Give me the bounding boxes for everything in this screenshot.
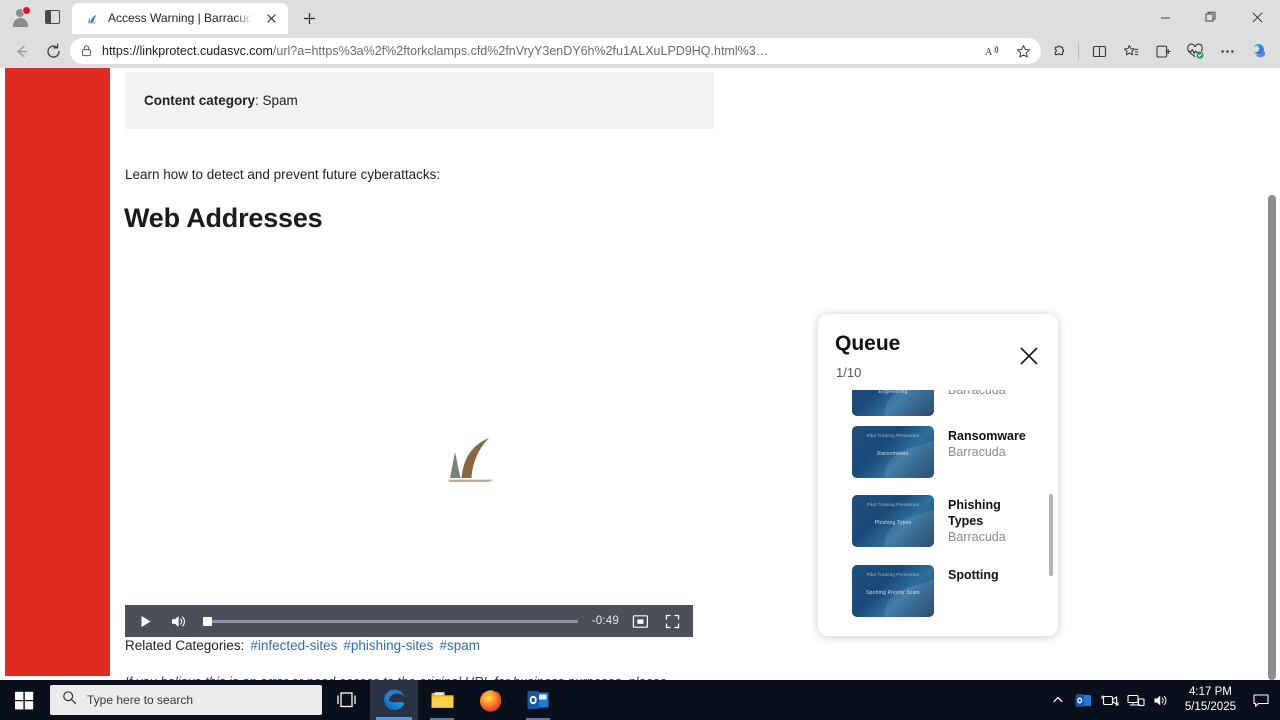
extensions-icon[interactable] <box>1043 37 1073 65</box>
maximize-restore-button[interactable] <box>1188 0 1234 34</box>
url-text: https://linkprotect.cudasvc.com/url?a=ht… <box>102 44 971 58</box>
address-bar[interactable]: https://linkprotect.cudasvc.com/url?a=ht… <box>70 38 1041 64</box>
browser-window: Access Warning | Barracuda Net <box>0 0 1280 720</box>
task-view-icon[interactable] <box>322 680 370 720</box>
queue-item-meta: Ransomware Barracuda <box>948 426 1020 461</box>
windows-taskbar: Type here to search <box>0 680 1280 720</box>
minimize-button[interactable] <box>1142 0 1188 34</box>
queue-panel: Queue 1/10 Pilot Training Prevention Eng… <box>818 314 1058 636</box>
queue-item-meta: Engineering Barracuda <box>948 390 1020 399</box>
search-placeholder: Type here to search <box>87 693 193 707</box>
page-viewport: Content category: Spam Learn how to dete… <box>0 68 1280 680</box>
queue-item-meta: Spotting <box>948 565 999 583</box>
browser-tab[interactable]: Access Warning | Barracuda Net <box>72 3 288 34</box>
notification-dot-icon <box>22 6 31 15</box>
url-path: /url?a=https%3a%2f%2ftorkclamps.cfd%2fnV… <box>273 44 768 58</box>
content-category-label: Content category <box>144 93 255 108</box>
queue-title: Queue <box>835 332 900 356</box>
collections-icon[interactable] <box>1148 37 1178 65</box>
queue-item-source: Barracuda <box>948 444 1020 461</box>
settings-more-icon[interactable] <box>1212 37 1242 65</box>
windows-start-icon[interactable] <box>0 680 48 720</box>
action-center-icon[interactable] <box>1246 680 1276 720</box>
tab-close-button[interactable] <box>260 8 282 30</box>
learn-line: Learn how to detect and prevent future c… <box>125 167 440 182</box>
video-time-remaining: -0:49 <box>592 615 619 627</box>
tray-time: 4:17 PM <box>1189 685 1232 700</box>
edge-icon[interactable] <box>370 680 418 720</box>
fullscreen-icon[interactable] <box>661 610 683 632</box>
thumb-top-text: Pilot Training Prevention <box>852 502 934 508</box>
volume-tray-icon[interactable] <box>1149 680 1175 720</box>
favorites-icon[interactable] <box>1116 37 1146 65</box>
video-progress-slider[interactable] <box>203 610 578 632</box>
tab-actions-button[interactable] <box>38 3 66 31</box>
queue-close-button[interactable] <box>1018 345 1040 367</box>
queue-item-source: Barracuda <box>948 529 1020 546</box>
play-icon[interactable] <box>135 610 157 632</box>
queue-count: 1/10 <box>836 365 861 380</box>
svg-text:A: A <box>985 47 993 58</box>
system-tray: 4:17 PM 5/15/2025 <box>1045 680 1280 720</box>
page-content: Content category: Spam Learn how to dete… <box>110 68 1255 680</box>
camera-icon[interactable] <box>1097 680 1123 720</box>
volume-icon[interactable] <box>167 610 189 632</box>
progress-track <box>203 620 578 623</box>
queue-item-title: Spotting <box>948 567 999 583</box>
outlook-icon[interactable] <box>514 680 562 720</box>
queue-item-title: Phishing Types <box>948 497 1020 529</box>
queue-thumbnail: Pilot Training Prevention Ransomware <box>852 426 934 478</box>
queue-thumbnail: Pilot Training Prevention Engineering <box>852 390 934 416</box>
search-input[interactable]: Type here to search <box>50 685 322 715</box>
split-screen-icon[interactable] <box>1084 37 1114 65</box>
thumb-top-text: Pilot Training Prevention <box>852 433 934 439</box>
thumb-label: Engineering <box>852 390 934 395</box>
outlook-tray-icon[interactable] <box>1071 680 1097 720</box>
page-title: Web Addresses <box>124 203 322 234</box>
thumb-label: Phishing Types <box>852 520 934 526</box>
thumb-top-text: Pilot Training Prevention <box>852 572 934 578</box>
network-icon[interactable] <box>1123 680 1149 720</box>
content-category-value: Spam <box>263 93 298 108</box>
queue-thumbnail: Pilot Training Prevention Phishing Types <box>852 495 934 547</box>
new-tab-button[interactable] <box>294 3 324 33</box>
list-item[interactable]: Pilot Training Prevention Spotting Prior… <box>818 565 1058 617</box>
navigation-toolbar: https://linkprotect.cudasvc.com/url?a=ht… <box>0 34 1280 68</box>
barracuda-fin-icon <box>84 11 100 27</box>
queue-item-title: Ransomware <box>948 428 1020 444</box>
url-domain: https://linkprotect.cudasvc.com <box>102 44 273 58</box>
content-category-box: Content category: Spam <box>125 72 714 129</box>
progress-handle[interactable] <box>203 617 212 626</box>
page-left-red-panel <box>5 68 110 676</box>
list-item[interactable]: Pilot Training Prevention Engineering En… <box>818 390 1058 416</box>
page-scrollbar[interactable] <box>1265 68 1279 680</box>
tab-title: Access Warning | Barracuda Net <box>108 3 252 34</box>
lock-icon <box>80 44 94 58</box>
video-player[interactable]: -0:49 <box>125 254 693 637</box>
file-explorer-icon[interactable] <box>418 680 466 720</box>
video-controls: -0:49 <box>125 605 693 637</box>
queue-list[interactable]: Pilot Training Prevention Engineering En… <box>818 390 1058 636</box>
queue-item-source: Barracuda <box>948 390 1020 399</box>
read-aloud-icon[interactable]: A <box>979 39 1003 63</box>
tag-spam[interactable]: #spam <box>439 638 480 653</box>
search-icon <box>62 690 77 710</box>
queue-thumbnail: Pilot Training Prevention Spotting Prior… <box>852 565 934 617</box>
thumb-label: Spotting Priority Scam <box>852 590 934 596</box>
browser-essentials-icon[interactable] <box>1180 37 1210 65</box>
tab-actions-icon <box>45 10 60 24</box>
clock[interactable]: 4:17 PM 5/15/2025 <box>1175 680 1246 720</box>
toolbar-separator <box>1078 43 1079 60</box>
show-hidden-icons-icon[interactable] <box>1045 680 1071 720</box>
firefox-icon[interactable] <box>466 680 514 720</box>
related-label: Related Categories: <box>125 638 244 653</box>
list-item[interactable]: Pilot Training Prevention Ransomware Ran… <box>818 426 1058 478</box>
close-window-button[interactable] <box>1234 0 1280 34</box>
profile-avatar-button[interactable] <box>6 3 34 31</box>
barracuda-logo-icon <box>437 434 503 486</box>
picture-in-picture-icon[interactable] <box>629 610 651 632</box>
star-icon[interactable] <box>1011 39 1035 63</box>
list-item[interactable]: Pilot Training Prevention Phishing Types… <box>818 495 1058 547</box>
queue-item-meta: Phishing Types Barracuda <box>948 495 1020 546</box>
window-controls <box>1142 0 1280 34</box>
tag-phishing-sites[interactable]: #phishing-sites <box>343 638 433 653</box>
disclaimer-text: If you believe this is an error or need … <box>125 671 695 680</box>
tabstrip-left-controls <box>0 0 66 34</box>
content-category-text: Content category: Spam <box>144 93 298 108</box>
tag-infected-sites[interactable]: #infected-sites <box>250 638 337 653</box>
back-button[interactable] <box>6 37 36 65</box>
copilot-icon[interactable] <box>1244 37 1274 65</box>
browser-toolbar-right <box>1043 37 1274 65</box>
tab-strip: Access Warning | Barracuda Net <box>0 0 1280 34</box>
thumb-label: Ransomware <box>852 451 934 457</box>
related-categories: Related Categories:#infected-sites#phish… <box>125 638 480 653</box>
reload-button[interactable] <box>38 37 68 65</box>
queue-scrollbar[interactable] <box>1049 494 1053 576</box>
tray-date: 5/15/2025 <box>1185 700 1236 715</box>
page-scrollbar-thumb[interactable] <box>1268 195 1276 680</box>
